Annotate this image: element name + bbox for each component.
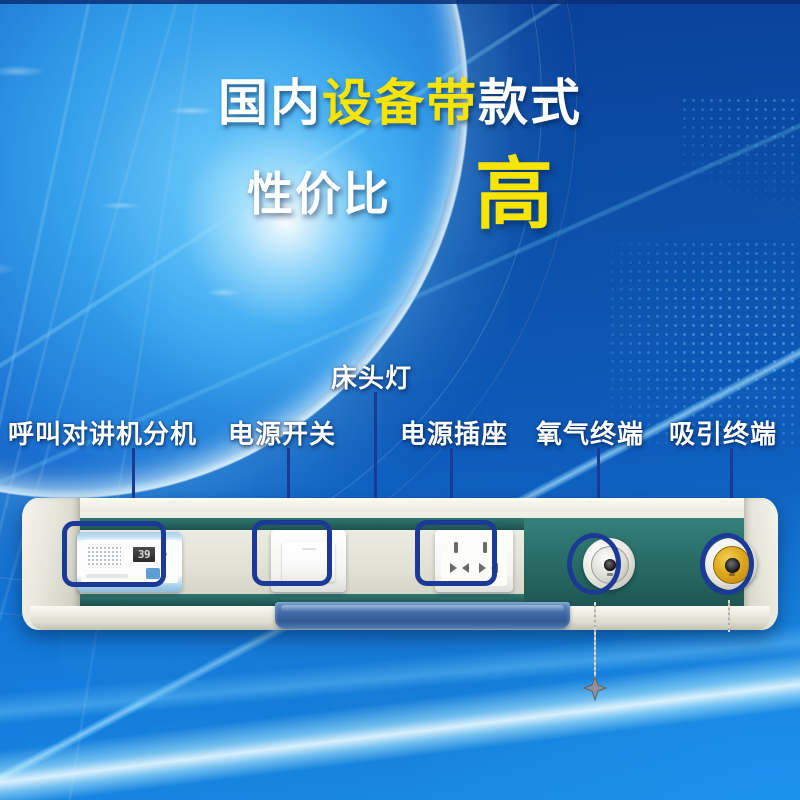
pull-cord-secondary[interactable] [728,600,730,632]
callout-label-oxygen: 氧气终端 [536,414,644,451]
lamp-gloss-highlight [281,605,564,612]
callout-label-intercom: 呼叫对讲机分机 [8,414,197,451]
highlight-circle-suction [700,533,754,595]
highlight-circle-oxygen [567,533,621,595]
bottom-light-glow [0,610,800,800]
callout-label-suction: 吸引终端 [669,414,777,451]
promo-image: 国内设备带款式 性价比 高 呼叫对讲机分机 电源开关 床头灯 电源插座 氧气终端… [0,0,800,800]
callout-label-power-socket: 电源插座 [400,414,508,451]
pull-cord-weight-icon[interactable] [582,676,608,702]
callout-label-power-switch: 电源开关 [228,414,336,451]
pull-cord[interactable] [594,602,596,684]
halftone-dot-pattern-upper [680,96,800,246]
top-edge-bar [0,0,800,4]
panel-top-face [22,498,778,512]
highlight-box-intercom [62,521,166,587]
bedside-lamp-diffuser [275,602,570,629]
callout-label-bedside-lamp: 床头灯 [331,358,412,395]
highlight-box-power-socket [415,520,497,586]
highlight-box-power-switch [252,520,332,586]
